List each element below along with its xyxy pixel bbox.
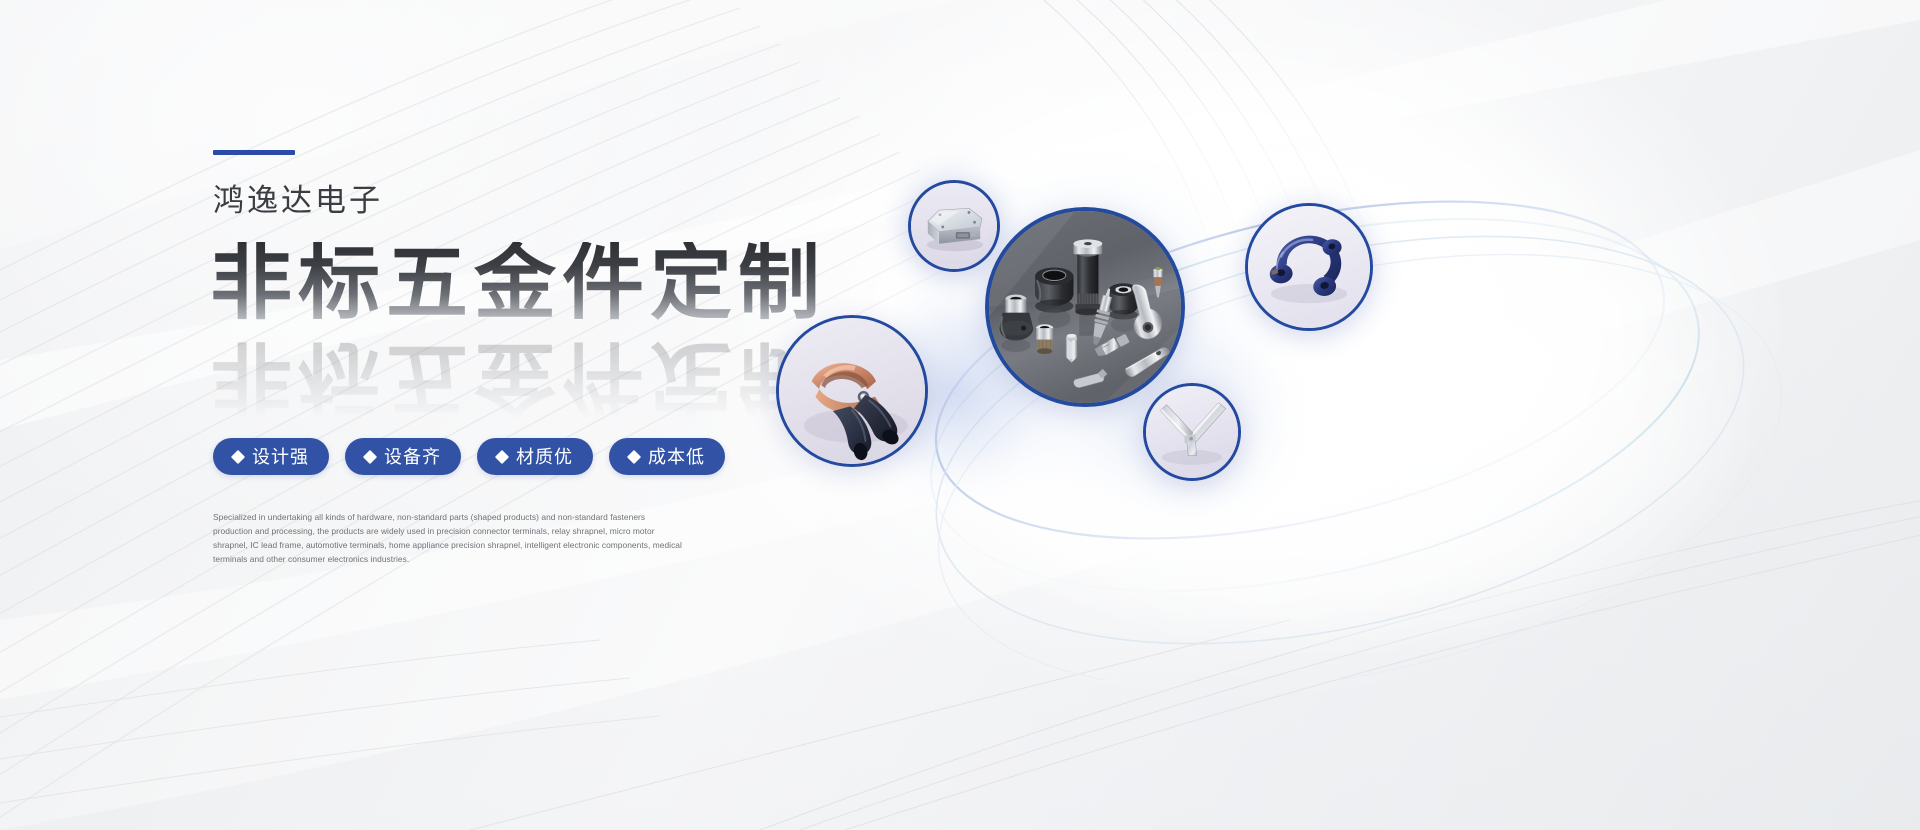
feature-badge-label: 设计强 bbox=[252, 448, 309, 466]
diamond-icon bbox=[363, 449, 377, 463]
metal-enclosure-box-image bbox=[911, 183, 997, 269]
diamond-icon bbox=[495, 449, 509, 463]
product-circle-retaining-ring[interactable] bbox=[1245, 203, 1373, 331]
product-showcase bbox=[740, 120, 1920, 680]
feature-badge-design[interactable]: 设计强 bbox=[213, 438, 329, 475]
l-bracket-image bbox=[1146, 386, 1238, 478]
feature-badge-material[interactable]: 材质优 bbox=[477, 438, 593, 475]
headline-reflection: 非标五金件定制 bbox=[210, 336, 826, 420]
banner-stage: 鸿逸达电子 非标五金件定制 非标五金件定制 设计强 设备齐 材质优 成本低 bbox=[0, 0, 1920, 830]
company-description: Specialized in undertaking all kinds of … bbox=[213, 511, 683, 566]
product-circle-metal-enclosure[interactable] bbox=[908, 180, 1000, 272]
feature-badge-equipment[interactable]: 设备齐 bbox=[345, 438, 461, 475]
diamond-icon bbox=[627, 449, 641, 463]
precision-turned-parts-image bbox=[989, 211, 1181, 403]
retaining-ring-image bbox=[1248, 206, 1370, 328]
product-circle-l-bracket[interactable] bbox=[1143, 383, 1241, 481]
accent-bar bbox=[213, 150, 295, 155]
feature-badge-label: 成本低 bbox=[648, 448, 705, 466]
diamond-icon bbox=[231, 449, 245, 463]
feature-badge-cost[interactable]: 成本低 bbox=[609, 438, 725, 475]
product-circle-precision-parts[interactable] bbox=[985, 207, 1185, 407]
feature-badge-label: 设备齐 bbox=[384, 448, 441, 466]
product-circle-battery-clamp[interactable] bbox=[776, 315, 928, 467]
feature-badge-label: 材质优 bbox=[516, 448, 573, 466]
battery-clamp-image bbox=[779, 318, 925, 464]
